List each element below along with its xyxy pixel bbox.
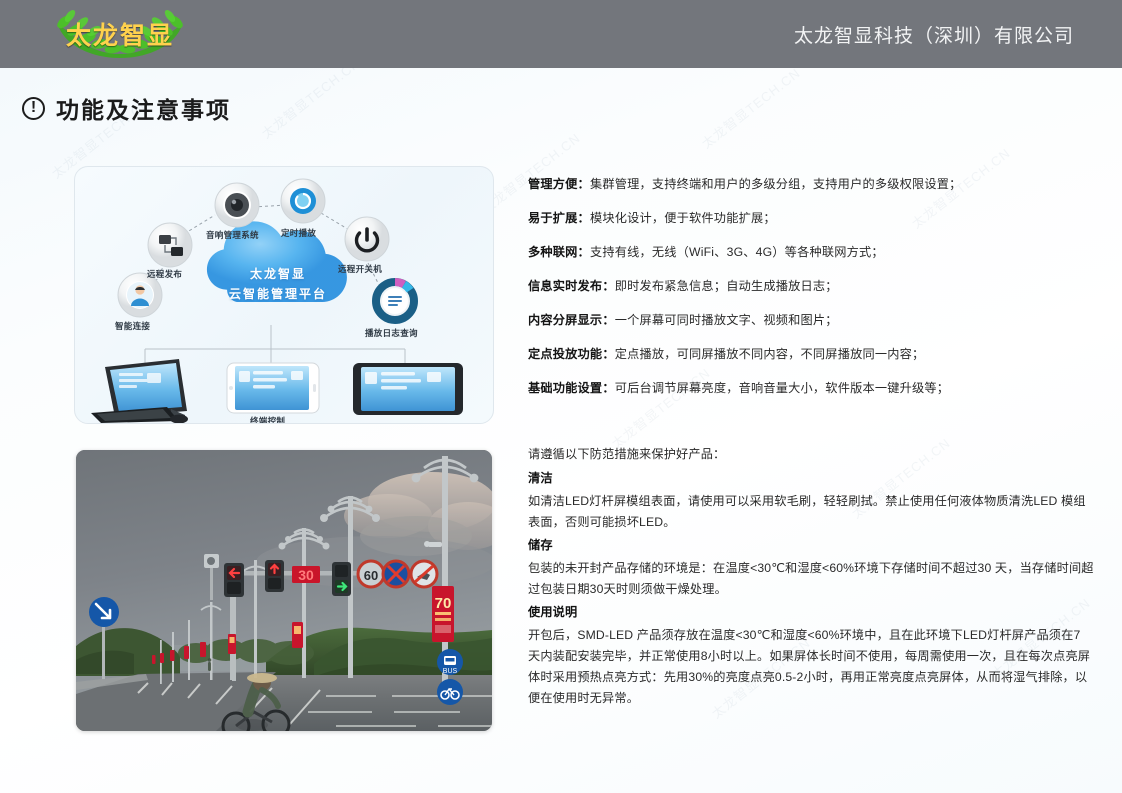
- svg-text:BUS: BUS: [443, 668, 458, 675]
- feature-body: 一个屏幕可同时播放文字、视频和图片；: [615, 313, 838, 327]
- feature-body: 支持有线，无线（WiFi、3G、4G）等各种联网方式；: [590, 245, 884, 259]
- node-label-log: 播放日志查询: [365, 327, 418, 339]
- node-power: [345, 217, 389, 261]
- traffic-light-mid: [265, 560, 284, 592]
- cloud-center-label: 太龙智显 云智能管理平台: [203, 265, 353, 302]
- feature-title: 定点投放功能：: [528, 347, 615, 361]
- feature-list: 管理方便：集群管理，支持终端和用户的多级分组，支持用户的多级权限设置； 易于扩展…: [528, 176, 1094, 414]
- feature-body: 模块化设计，便于软件功能扩展；: [590, 211, 776, 225]
- feature-body: 即时发布紧急信息；自动生成播放日志；: [615, 279, 838, 293]
- feature-item: 基础功能设置：可后台调节屏幕亮度，音响音量大小，软件版本一键升级等；: [528, 380, 1094, 396]
- feature-item: 管理方便：集群管理，支持终端和用户的多级分组，支持用户的多级权限设置；: [528, 176, 1094, 192]
- sign-bicycle-lane: [437, 679, 463, 705]
- note-body-clean: 如清洁LED灯杆屏模组表面，请使用可以采用软毛刷，轻轻刷拭。禁止使用任何液体物质…: [528, 491, 1096, 533]
- feature-body: 可后台调节屏幕亮度，音响音量大小，软件版本一键升级等；: [615, 381, 949, 395]
- traffic-light-right: [332, 562, 351, 596]
- node-label-audio: 音响管理系统: [206, 229, 259, 241]
- company-name: 太龙智显科技（深圳）有限公司: [794, 0, 1074, 68]
- notes-lead: 请遵循以下防范措施来保护好产品：: [528, 444, 1096, 465]
- node-label-power: 远程开关机: [338, 263, 382, 275]
- sign-60: 60: [358, 561, 384, 587]
- node-log: [373, 279, 417, 323]
- cloud-label-line1: 太龙智显: [203, 265, 353, 282]
- device-smartphone: [227, 363, 319, 413]
- feature-title: 内容分屏显示：: [528, 313, 615, 327]
- feature-item: 定点投放功能：定点播放，可同屏播放不同内容，不同屏播放同一内容；: [528, 346, 1094, 362]
- feature-body: 集群管理，支持终端和用户的多级分组，支持用户的多级权限设置；: [590, 177, 962, 191]
- led-pole-screen-main: 70: [432, 586, 454, 642]
- page-title: 功能及注意事项: [56, 91, 231, 125]
- feature-item: 多种联网：支持有线，无线（WiFi、3G、4G）等各种联网方式；: [528, 244, 1094, 260]
- sign-no-parking: [383, 561, 409, 587]
- architecture-diagram: 太龙智显 云智能管理平台 音响管理系统 定时播放 远程发布 远程开关机 智能连接…: [74, 166, 494, 424]
- node-label-connect: 智能连接: [115, 320, 150, 332]
- node-speaker: [215, 183, 259, 227]
- page-header: 太龙智显 太龙智显科技（深圳）有限公司: [0, 0, 1122, 68]
- sign-bus-lane: BUS: [437, 649, 463, 675]
- cloud-label-line2: 云智能管理平台: [203, 285, 353, 302]
- svg-text:30: 30: [298, 567, 314, 583]
- sign-30: 30: [292, 566, 320, 583]
- feature-item: 内容分屏显示：一个屏幕可同时播放文字、视频和图片；: [528, 312, 1094, 328]
- note-heading-usage: 使用说明: [528, 602, 1096, 623]
- feature-title: 基础功能设置：: [528, 381, 615, 395]
- road-photo: 30 60 70: [76, 450, 492, 731]
- node-publish: [148, 223, 192, 267]
- section-title: ! 功能及注意事项: [22, 91, 231, 125]
- node-timer: [281, 179, 325, 223]
- node-label-publish: 远程发布: [147, 268, 182, 280]
- sign-no-horn: [411, 561, 437, 587]
- brand-logo: 太龙智显: [34, 6, 206, 62]
- precaution-notes: 请遵循以下防范措施来保护好产品： 清洁 如清洁LED灯杆屏模组表面，请使用可以采…: [528, 444, 1096, 711]
- logo-text: 太龙智显: [34, 6, 206, 62]
- exclamation-circle-icon: !: [22, 97, 45, 120]
- device-tablet: [353, 363, 463, 415]
- feature-title: 多种联网：: [528, 245, 590, 259]
- node-label-terminal: 终端控制: [250, 415, 285, 424]
- svg-text:70: 70: [435, 595, 452, 612]
- device-desktop-pc: [91, 359, 188, 423]
- note-heading-storage: 储存: [528, 535, 1096, 556]
- feature-title: 信息实时发布：: [528, 279, 615, 293]
- note-heading-clean: 清洁: [528, 468, 1096, 489]
- feature-item: 易于扩展：模块化设计，便于软件功能扩展；: [528, 210, 1094, 226]
- note-body-usage: 开包后，SMD-LED 产品须存放在温度<30℃和湿度<60%环境中，且在此环境…: [528, 625, 1096, 709]
- feature-body: 定点播放，可同屏播放不同内容，不同屏播放同一内容；: [615, 347, 925, 361]
- feature-title: 易于扩展：: [528, 211, 590, 225]
- feature-item: 信息实时发布：即时发布紧急信息；自动生成播放日志；: [528, 278, 1094, 294]
- feature-title: 管理方便：: [528, 177, 590, 191]
- svg-text:60: 60: [364, 568, 378, 583]
- node-label-timer: 定时播放: [281, 227, 316, 239]
- note-body-storage: 包装的未开封产品存储的环境是：在温度<30℃和湿度<60%环境下存储时间不超过3…: [528, 558, 1096, 600]
- road-photo-canvas: 30 60 70: [76, 450, 492, 731]
